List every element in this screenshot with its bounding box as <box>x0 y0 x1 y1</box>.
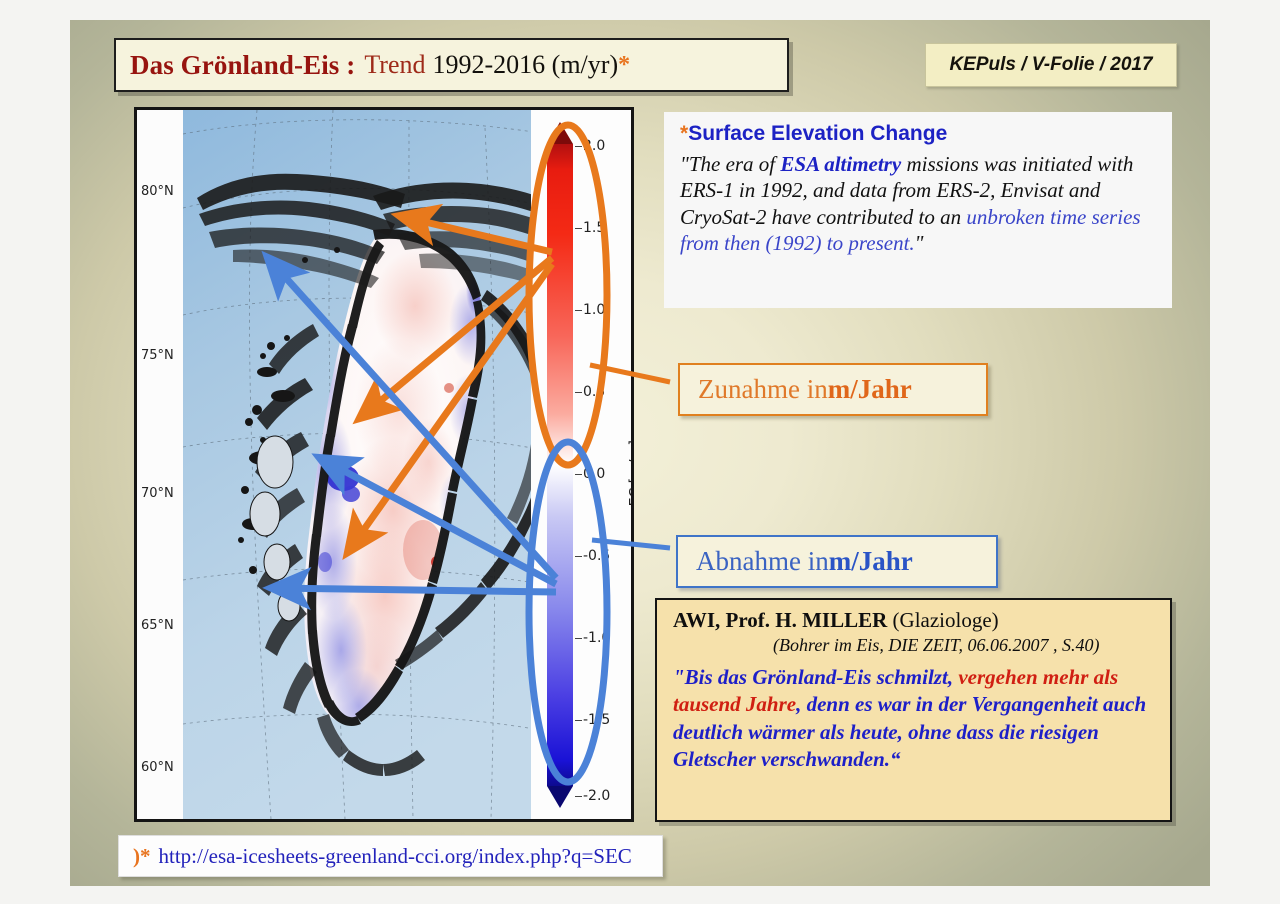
quote-part1: "Bis das Grönland-Eis schmilzt, <box>673 665 958 689</box>
colorbar-tick-neg1-5: -1.5 <box>583 712 610 728</box>
info-quote-open: "The era of <box>680 152 780 176</box>
slide-stage: Das Grönland-Eis : Trend 1992-2016 (m/yr… <box>0 0 1280 904</box>
info-body-text: "The era of ESA altimetry missions was i… <box>680 151 1160 257</box>
quote-author: AWI, Prof. H. MILLER <box>673 608 887 632</box>
title-asterisk: * <box>618 52 630 79</box>
quote-source: (Bohrer im Eis, DIE ZEIT, 06.06.2007 , S… <box>673 635 1158 656</box>
colorbar-tick-neg0-5: -0.5 <box>583 548 610 564</box>
increase-callout-prefix: Zunahme in <box>698 374 828 405</box>
quote-author-line: AWI, Prof. H. MILLER (Glaziologe) <box>673 608 1158 633</box>
info-heading: *Surface Elevation Change <box>680 122 1160 146</box>
lat-label-70n: 70°N <box>141 486 174 501</box>
page-title: Das Grönland-Eis : <box>130 50 355 81</box>
info-quote-close: " <box>915 231 924 255</box>
greenland-map-panel: 80°N 75°N 70°N 65°N 60°N <box>134 107 634 822</box>
decrease-callout: Abnahme in m/Jahr <box>676 535 998 588</box>
source-url-link[interactable]: http://esa-icesheets-greenland-cci.org/i… <box>159 844 632 869</box>
decrease-callout-unit: m/Jahr <box>829 546 913 577</box>
colorbar-gradient <box>547 122 573 808</box>
status-badge: KEPuls / V-Folie / 2017 <box>925 43 1177 87</box>
increase-callout: Zunahme in m/Jahr <box>678 363 988 416</box>
esa-altimetry-term: ESA altimetry <box>780 152 901 176</box>
quote-author-role: (Glaziologe) <box>893 608 999 632</box>
title-trend-word: Trend <box>364 50 425 80</box>
source-url-box[interactable]: )* http://esa-icesheets-greenland-cci.or… <box>118 835 663 877</box>
info-heading-text: Surface Elevation Change <box>688 122 947 145</box>
colorbar-tick-0: 0.0 <box>583 466 605 482</box>
lat-label-65n: 65°N <box>141 618 174 633</box>
map-figure: 80°N 75°N 70°N 65°N 60°N <box>137 110 631 819</box>
decrease-callout-prefix: Abnahme in <box>696 546 829 577</box>
quote-text: "Bis das Grönland-Eis schmilzt, vergehen… <box>673 664 1158 773</box>
miller-quote-box: AWI, Prof. H. MILLER (Glaziologe) (Bohre… <box>655 598 1172 822</box>
colorbar-region: 2.0 1.5 1.0 0.5 0.0 -0.5 -1.0 -1.5 -2.0 … <box>531 110 631 819</box>
slide-title-bar: Das Grönland-Eis : Trend 1992-2016 (m/yr… <box>114 38 789 92</box>
colorbar-tick-neg2: -2.0 <box>583 788 610 804</box>
title-range: 1992-2016 (m/yr) <box>433 50 619 80</box>
lat-label-60n: 60°N <box>141 760 174 775</box>
lat-label-80n: 80°N <box>141 184 174 199</box>
colorbar-tick-2: 2.0 <box>583 138 605 154</box>
colorbar-tick-1: 1.0 <box>583 302 605 318</box>
surface-elevation-info-box: *Surface Elevation Change "The era of ES… <box>664 112 1172 308</box>
colorbar-axis-title: EC [m/yr] <box>627 440 634 506</box>
footnote-marker: )* <box>133 844 151 869</box>
increase-callout-unit: m/Jahr <box>828 374 912 405</box>
colorbar-tick-0-5: 0.5 <box>583 384 605 400</box>
info-asterisk: * <box>680 122 688 145</box>
colorbar-tick-1-5: 1.5 <box>583 220 605 236</box>
colorbar-tick-neg1: -1.0 <box>583 630 610 646</box>
lat-label-75n: 75°N <box>141 348 174 363</box>
presentation-slide: Das Grönland-Eis : Trend 1992-2016 (m/yr… <box>70 20 1210 886</box>
